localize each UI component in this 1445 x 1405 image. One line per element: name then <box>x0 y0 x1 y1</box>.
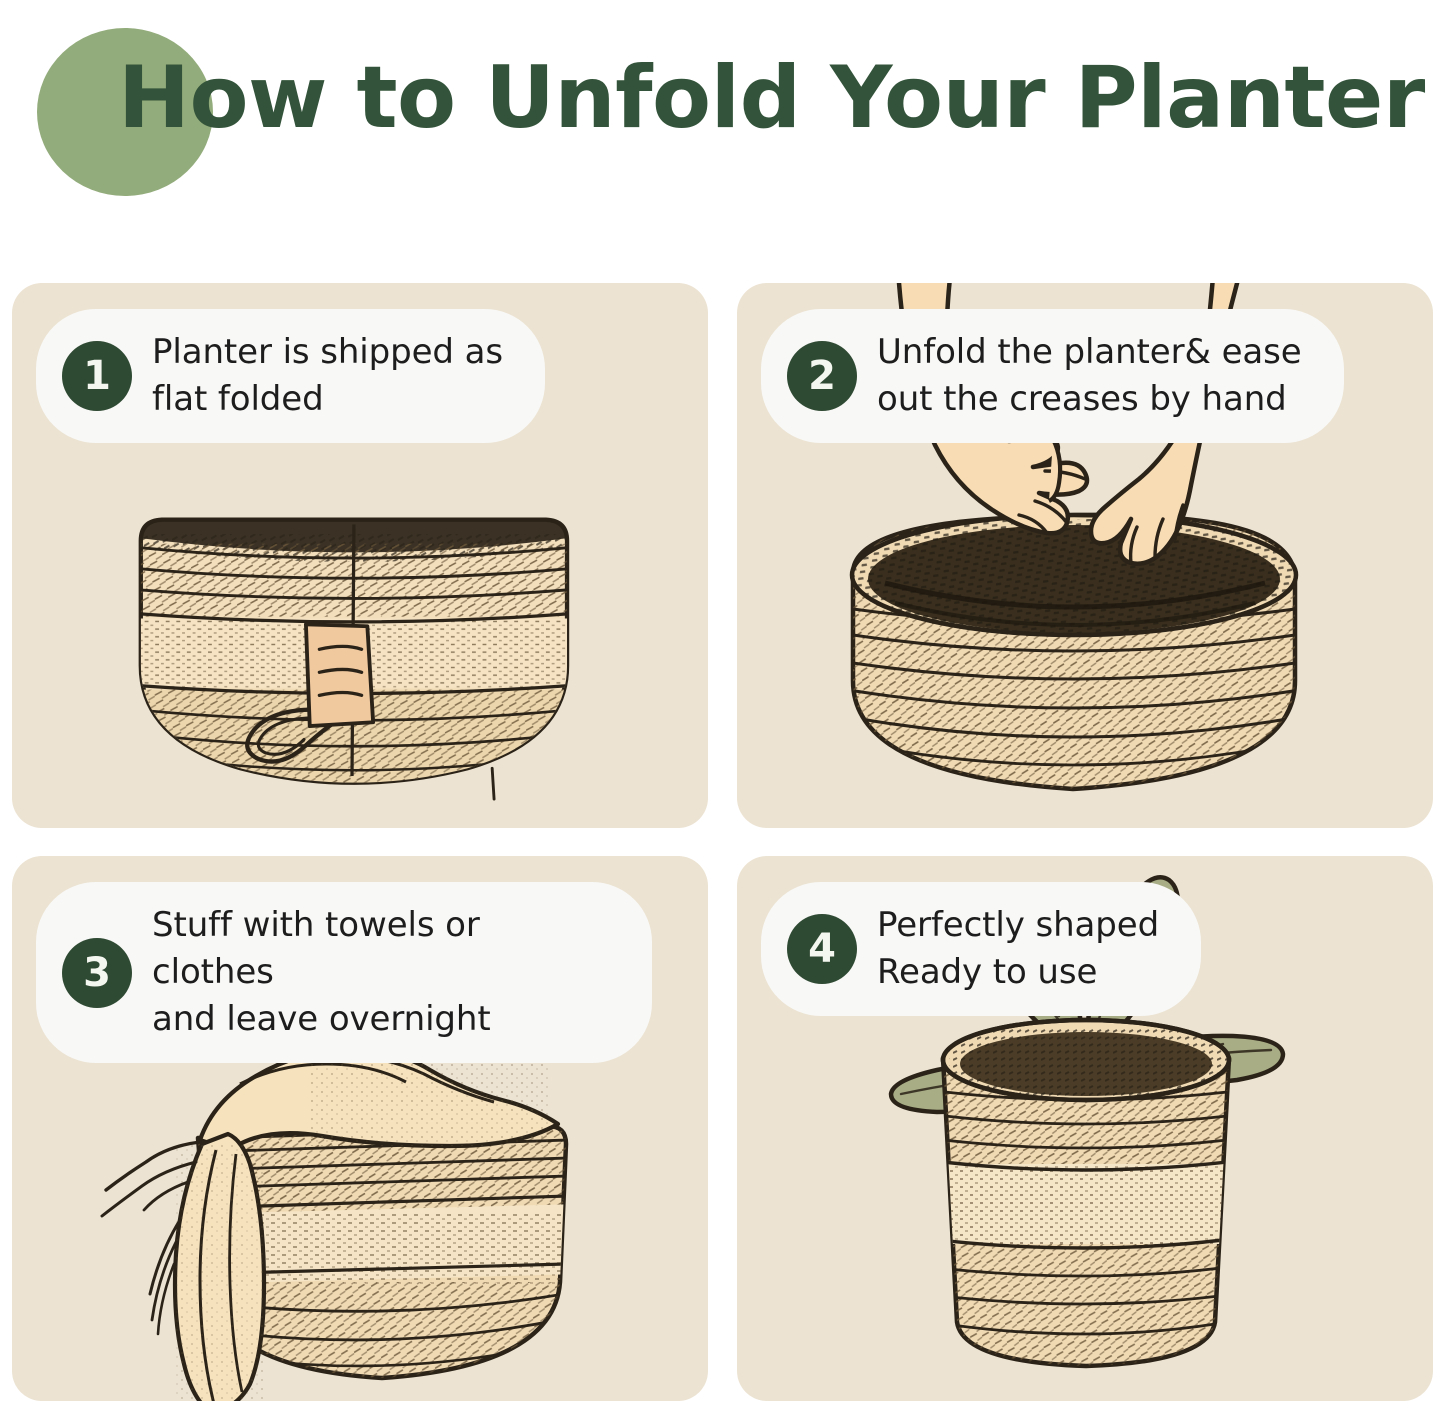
step-number-badge-2: 2 <box>787 341 857 411</box>
step-label-2: 2 Unfold the planter& ease out the creas… <box>761 309 1344 443</box>
step-label-4: 4 Perfectly shaped Ready to use <box>761 882 1201 1016</box>
step-label-3: 3 Stuff with towels or clothes and leave… <box>36 882 652 1063</box>
step-number-badge-1: 1 <box>62 341 132 411</box>
step-text-1: Planter is shipped as flat folded <box>152 329 503 423</box>
step-card-3: 3 Stuff with towels or clothes and leave… <box>12 856 708 1401</box>
step-card-4: 4 Perfectly shaped Ready to use <box>737 856 1433 1401</box>
step-label-1: 1 Planter is shipped as flat folded <box>36 309 545 443</box>
step-card-2: 2 Unfold the planter& ease out the creas… <box>737 283 1433 828</box>
steps-grid: 1 Planter is shipped as flat folded <box>12 283 1433 1401</box>
page-header: How to Unfold Your Planter <box>0 0 1445 230</box>
step-number-badge-4: 4 <box>787 914 857 984</box>
step-number-badge-3: 3 <box>62 938 132 1008</box>
step-text-4: Perfectly shaped Ready to use <box>877 902 1159 996</box>
step-text-3: Stuff with towels or clothes and leave o… <box>152 902 610 1043</box>
step-text-2: Unfold the planter& ease out the creases… <box>877 329 1302 423</box>
page-title: How to Unfold Your Planter <box>118 28 1418 168</box>
step-card-1: 1 Planter is shipped as flat folded <box>12 283 708 828</box>
